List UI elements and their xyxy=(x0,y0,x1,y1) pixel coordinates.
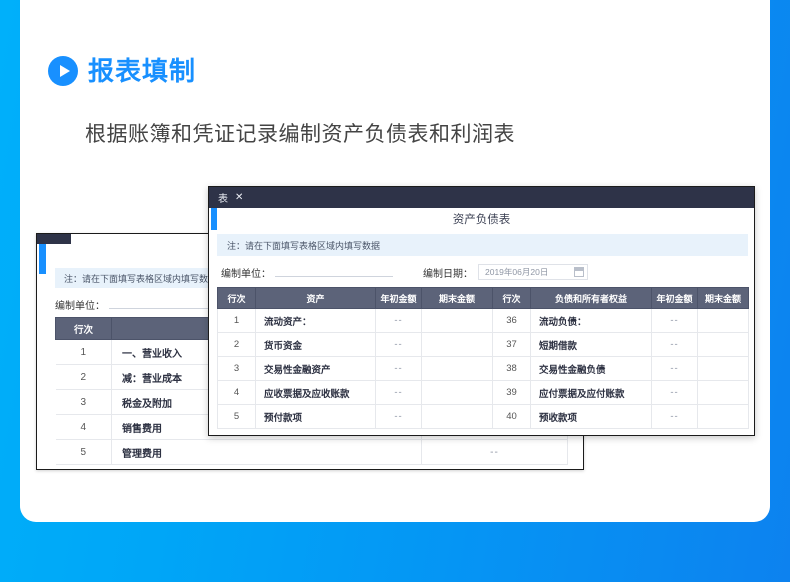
asset-end-amount[interactable] xyxy=(422,333,493,357)
front-meta-row: 编制单位： 编制日期： 2019年06月20日 xyxy=(221,264,746,280)
row-number-left: 5 xyxy=(218,405,256,429)
front-window-tabbar: 表 ✕ xyxy=(209,187,754,208)
row-number-right: 39 xyxy=(493,381,531,405)
tab-balance-sheet[interactable]: 表 ✕ xyxy=(209,187,252,208)
asset-begin-amount[interactable]: -- xyxy=(376,333,422,357)
row-number-left: 3 xyxy=(218,357,256,381)
row-number-right: 37 xyxy=(493,333,531,357)
liability-begin-amount[interactable]: -- xyxy=(652,405,698,429)
front-col-end-right: 期末金额 xyxy=(698,288,749,309)
front-table-header-row: 行次 资产 年初金额 期末金额 行次 负债和所有者权益 年初金额 期末金额 xyxy=(218,288,749,309)
front-col-rownum-right: 行次 xyxy=(493,288,531,309)
front-note-text: 注：请在下面填写表格区域内填写数据 xyxy=(227,239,380,252)
balance-sheet-table: 行次 资产 年初金额 期末金额 行次 负债和所有者权益 年初金额 期末金额 1流… xyxy=(217,287,749,429)
row-number-right: 38 xyxy=(493,357,531,381)
front-unit-label: 编制单位： xyxy=(221,265,271,280)
tab-label: 表 xyxy=(218,190,228,205)
liability-begin-amount[interactable]: -- xyxy=(652,309,698,333)
asset-name[interactable]: 预付款项 xyxy=(256,405,376,429)
asset-end-amount[interactable] xyxy=(422,309,493,333)
back-note-text: 注：请在下面填写表格区域内填写数据 xyxy=(64,272,217,285)
liability-end-amount[interactable] xyxy=(698,309,749,333)
back-col-rownum: 行次 xyxy=(56,318,112,340)
row-number: 2 xyxy=(56,365,112,390)
asset-begin-amount[interactable]: -- xyxy=(376,381,422,405)
row-number-right: 36 xyxy=(493,309,531,333)
front-window-note: 注：请在下面填写表格区域内填写数据 xyxy=(217,234,748,256)
asset-name[interactable]: 交易性金融资产 xyxy=(256,357,376,381)
section-heading: 报表填制 xyxy=(48,56,196,86)
row-number-left: 2 xyxy=(218,333,256,357)
liability-end-amount[interactable] xyxy=(698,381,749,405)
asset-name[interactable]: 应收票据及应收账款 xyxy=(256,381,376,405)
asset-begin-amount[interactable]: -- xyxy=(376,405,422,429)
liability-begin-amount[interactable]: -- xyxy=(652,381,698,405)
play-circle-icon xyxy=(48,56,78,86)
date-picker-input[interactable]: 2019年06月20日 xyxy=(478,264,588,280)
table-row[interactable]: 2货币资金--37短期借款-- xyxy=(218,333,749,357)
table-row[interactable]: 5预付款项--40预收款项-- xyxy=(218,405,749,429)
table-row[interactable]: 5管理费用-- xyxy=(56,440,568,465)
row-number-left: 1 xyxy=(218,309,256,333)
asset-begin-amount[interactable]: -- xyxy=(376,357,422,381)
front-col-liabilities: 负债和所有者权益 xyxy=(531,288,652,309)
table-row[interactable]: 4应收票据及应收账款--39应付票据及应付账款-- xyxy=(218,381,749,405)
liability-end-amount[interactable] xyxy=(698,405,749,429)
back-window-accent-bar xyxy=(39,244,46,274)
row-number-right: 40 xyxy=(493,405,531,429)
row-number: 1 xyxy=(56,340,112,365)
asset-name[interactable]: 流动资产： xyxy=(256,309,376,333)
front-col-begin-left: 年初金额 xyxy=(376,288,422,309)
front-col-rownum-left: 行次 xyxy=(218,288,256,309)
row-item-name[interactable]: 管理费用 xyxy=(112,440,422,465)
table-row[interactable]: 3交易性金融资产--38交易性金融负债-- xyxy=(218,357,749,381)
asset-begin-amount[interactable]: -- xyxy=(376,309,422,333)
row-number: 5 xyxy=(56,440,112,465)
front-unit-input[interactable] xyxy=(275,276,393,277)
page-subtitle: 根据账簿和凭证记录编制资产负债表和利润表 xyxy=(85,118,515,148)
liability-name[interactable]: 交易性金融负债 xyxy=(531,357,652,381)
row-number: 4 xyxy=(56,415,112,440)
liability-begin-amount[interactable]: -- xyxy=(652,357,698,381)
row-number: 3 xyxy=(56,390,112,415)
asset-end-amount[interactable] xyxy=(422,381,493,405)
back-unit-label: 编制单位： xyxy=(55,297,105,312)
liability-name[interactable]: 流动负债： xyxy=(531,309,652,333)
date-value: 2019年06月20日 xyxy=(485,266,548,278)
asset-end-amount[interactable] xyxy=(422,405,493,429)
balance-sheet-window[interactable]: 表 ✕ 资产负债表 注：请在下面填写表格区域内填写数据 编制单位： 编制日期： … xyxy=(208,186,755,436)
asset-name[interactable]: 货币资金 xyxy=(256,333,376,357)
liability-end-amount[interactable] xyxy=(698,333,749,357)
liability-name[interactable]: 预收款项 xyxy=(531,405,652,429)
close-icon[interactable]: ✕ xyxy=(235,193,243,203)
liability-name[interactable]: 应付票据及应付账款 xyxy=(531,381,652,405)
liability-end-amount[interactable] xyxy=(698,357,749,381)
front-col-end-left: 期末金额 xyxy=(422,288,493,309)
row-value[interactable]: -- xyxy=(422,440,568,465)
front-date-label: 编制日期： xyxy=(423,265,473,280)
asset-end-amount[interactable] xyxy=(422,357,493,381)
row-number-left: 4 xyxy=(218,381,256,405)
front-col-begin-right: 年初金额 xyxy=(652,288,698,309)
table-row[interactable]: 1流动资产：--36流动负债：-- xyxy=(218,309,749,333)
liability-begin-amount[interactable]: -- xyxy=(652,333,698,357)
balance-sheet-title: 资产负债表 xyxy=(209,211,754,227)
front-col-assets: 资产 xyxy=(256,288,376,309)
liability-name[interactable]: 短期借款 xyxy=(531,333,652,357)
calendar-icon[interactable] xyxy=(574,267,584,277)
back-window-tabbar xyxy=(37,234,71,244)
page-title: 报表填制 xyxy=(88,56,196,86)
